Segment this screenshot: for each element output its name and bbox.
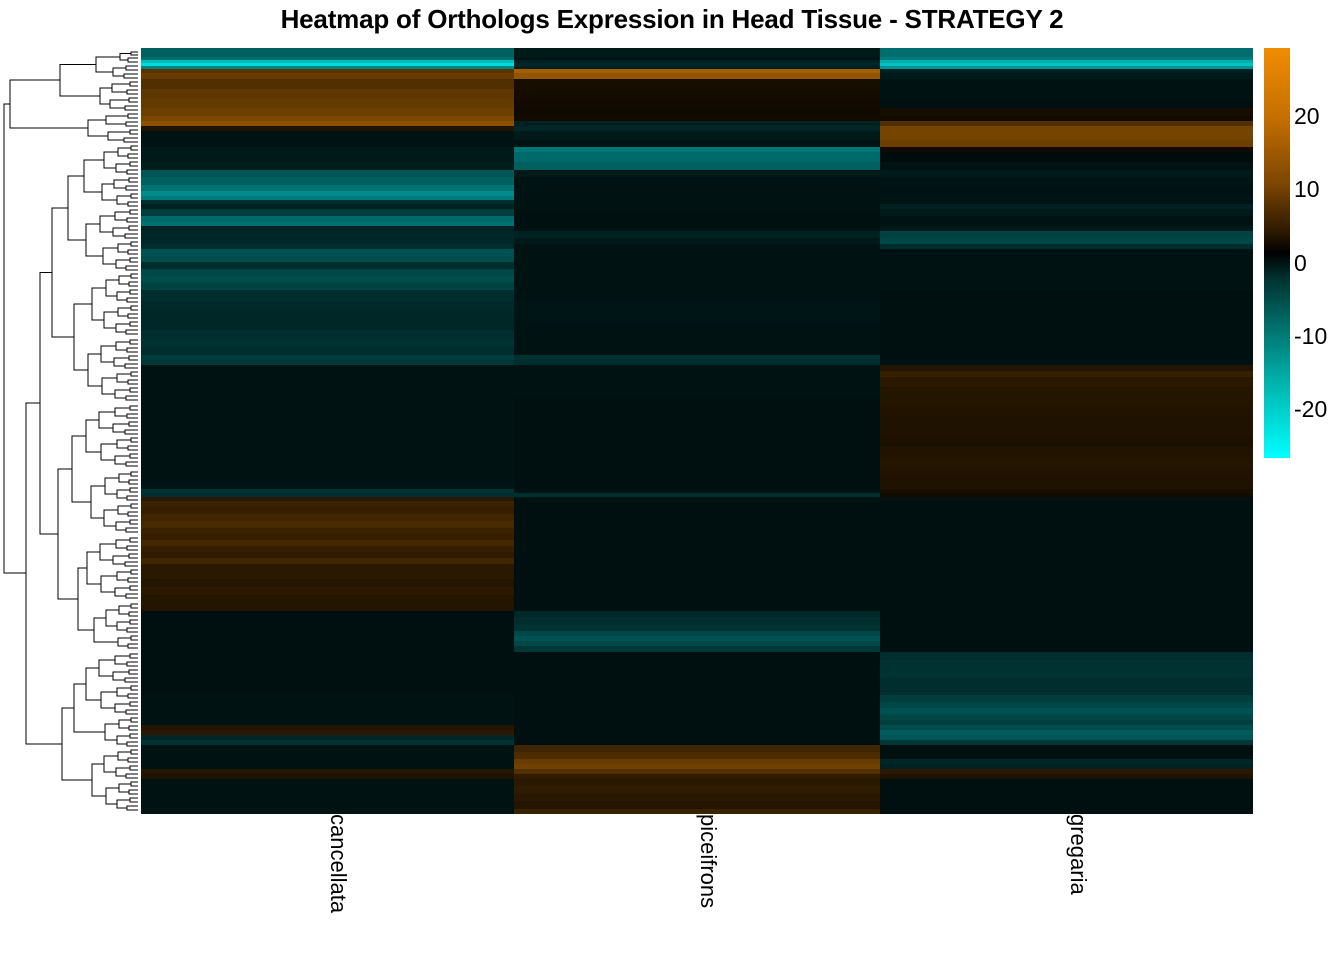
heatmap-cell[interactable] [141,521,514,528]
heatmap-cell[interactable] [880,330,1253,339]
heatmap-cell[interactable] [880,687,1253,695]
heatmap-cell[interactable] [514,282,880,290]
page-title: Heatmap of Orthologs Expression in Head … [0,4,1344,35]
heatmap-cell[interactable] [141,437,514,447]
heatmap-row[interactable] [141,79,1253,89]
heatmap-cell[interactable] [880,48,1253,57]
heatmap-cell[interactable] [880,587,1253,595]
heatmap-cell[interactable] [514,579,880,587]
heatmap-cell[interactable] [514,660,880,669]
heatmap-cell[interactable] [880,301,1253,311]
heatmap-cell[interactable] [880,170,1253,177]
heatmap-row[interactable] [141,321,1253,330]
heatmap-cell[interactable] [141,330,514,339]
heatmap-row[interactable] [141,467,1253,475]
heatmap-row[interactable] [141,162,1253,170]
heatmap-cell[interactable] [514,752,880,759]
heatmap-cell[interactable] [141,617,514,624]
heatmap-row[interactable] [141,231,1253,238]
heatmap-cell[interactable] [141,140,514,147]
heatmap-cell[interactable] [141,624,514,631]
heatmap-cell[interactable] [880,231,1253,238]
heatmap-cell[interactable] [514,564,880,571]
heatmap-cell[interactable] [514,152,880,162]
dendrogram-svg [0,48,141,814]
heatmap-cell[interactable] [141,687,514,695]
heatmap-cell[interactable] [514,427,880,437]
heatmap-cell[interactable] [514,48,880,57]
heatmap-cell[interactable] [141,339,514,347]
heatmap-row[interactable] [141,437,1253,447]
heatmap-row[interactable] [141,595,1253,603]
heatmap-cell[interactable] [141,397,514,407]
heatmap-cell[interactable] [514,170,880,177]
heatmap-cell[interactable] [514,669,880,678]
heatmap-cell[interactable] [141,311,514,321]
heatmap-cell[interactable] [880,89,1253,99]
heatmap-cell[interactable] [514,347,880,355]
heatmap-row[interactable] [141,669,1253,678]
heatmap-row[interactable] [141,152,1253,162]
row-dendrogram [0,48,141,814]
heatmap-row[interactable] [141,785,1253,793]
heatmap-row[interactable] [141,457,1253,467]
heatmap-cell[interactable] [880,339,1253,347]
heatmap-cell[interactable] [880,785,1253,793]
colorbar-tick-minus20: -20 [1294,398,1327,421]
colorbar-tick-minus10: -10 [1294,325,1327,348]
heatmap-cell[interactable] [514,108,880,116]
heatmap-cell[interactable] [141,752,514,759]
heatmap-cell[interactable] [141,249,514,256]
heatmap-row[interactable] [141,603,1253,611]
heatmap-cell[interactable] [141,89,514,99]
heatmap-row[interactable] [141,282,1253,290]
heatmap-cell[interactable] [880,311,1253,321]
heatmap-cell[interactable] [141,301,514,311]
heatmap-row[interactable] [141,752,1253,759]
heatmap-cell[interactable] [141,603,514,611]
heatmap-cell[interactable] [514,330,880,339]
heatmap-cell[interactable] [880,695,1253,702]
heatmap-cell[interactable] [880,579,1253,587]
heatmap-cell[interactable] [880,108,1253,116]
heatmap-cell[interactable] [514,617,880,624]
heatmap-cell[interactable] [514,603,880,611]
heatmap-cell[interactable] [514,311,880,321]
heatmap-cell[interactable] [514,397,880,407]
colorbar-ticks: 20 10 0 -10 -20 [1294,48,1344,458]
heatmap-cell[interactable] [141,152,514,162]
heatmap-row[interactable] [141,587,1253,595]
heatmap-cell[interactable] [141,131,514,140]
colorbar-gradient [1264,48,1290,458]
heatmap-cell[interactable] [141,447,514,457]
heatmap-row[interactable] [141,330,1253,339]
heatmap-cell[interactable] [880,793,1253,801]
heatmap-row[interactable] [141,387,1253,397]
heatmap-row[interactable] [141,447,1253,457]
heatmap-cell[interactable] [514,321,880,330]
heatmap-cell[interactable] [880,752,1253,759]
heatmap-cell[interactable] [514,457,880,467]
heatmap-row[interactable] [141,801,1253,809]
heatmap-cell[interactable] [141,579,514,587]
heatmap-cell[interactable] [141,99,514,108]
heatmap-row[interactable] [141,687,1253,695]
heatmap-row[interactable] [141,177,1253,185]
heatmap-row[interactable] [141,427,1253,437]
heatmap-cell[interactable] [141,571,514,579]
heatmap-cell[interactable] [514,447,880,457]
heatmap-cell[interactable] [880,269,1253,276]
heatmap-cell[interactable] [880,652,1253,660]
heatmap-cell[interactable] [880,660,1253,669]
heatmap-row[interactable] [141,624,1253,631]
heatmap-cell[interactable] [514,162,880,170]
heatmap-cell[interactable] [880,397,1253,407]
heatmap-cell[interactable] [880,669,1253,678]
heatmap-cell[interactable] [141,475,514,483]
heatmap-row[interactable] [141,262,1253,269]
heatmap-cell[interactable] [880,162,1253,170]
heatmap-cell[interactable] [514,571,880,579]
heatmap-cell[interactable] [141,564,514,571]
heatmap-cell[interactable] [141,595,514,603]
heatmap-cell[interactable] [141,785,514,793]
colorbar-tick-20: 20 [1294,105,1320,128]
heatmap-cell[interactable] [880,475,1253,483]
heatmap-cell[interactable] [514,475,880,483]
heatmap-cell[interactable] [141,417,514,427]
heatmap-cell[interactable] [514,79,880,89]
heatmap-cell[interactable] [880,624,1253,631]
heatmap-cell[interactable] [514,131,880,140]
heatmap-cell[interactable] [141,678,514,687]
heatmap-cell[interactable] [141,177,514,185]
heatmap-cell[interactable] [141,282,514,290]
heatmap-cell[interactable] [880,262,1253,269]
heatmap-cell[interactable] [880,457,1253,467]
heatmap-cell[interactable] [880,377,1253,387]
heatmap-cell[interactable] [141,209,514,216]
heatmap-cell[interactable] [880,140,1253,147]
heatmap-row[interactable] [141,514,1253,521]
heatmap-row[interactable] [141,417,1253,427]
heatmap-row[interactable] [141,249,1253,256]
heatmap-cell[interactable] [141,231,514,238]
heatmap-row[interactable] [141,521,1253,528]
heatmap-row[interactable] [141,269,1253,276]
column-label-piceifrons: piceifrons [697,814,719,908]
heatmap-cell[interactable] [141,587,514,595]
heatmap-cell[interactable] [880,745,1253,752]
column-labels: cancellata piceifrons gregaria [141,814,1253,960]
heatmap-cell[interactable] [141,108,514,116]
heatmap-cell[interactable] [880,801,1253,809]
heatmap-cell[interactable] [141,162,514,170]
heatmap-cell[interactable] [514,339,880,347]
heatmap-cell[interactable] [141,652,514,660]
heatmap-cell[interactable] [514,377,880,387]
colorbar-tick-0: 0 [1294,252,1307,275]
heatmap-cell[interactable] [880,603,1253,611]
heatmap-cell[interactable] [880,617,1253,624]
heatmap-cell[interactable] [514,231,880,238]
heatmap-cell[interactable] [514,521,880,528]
heatmap-cell[interactable] [880,290,1253,301]
heatmap-row[interactable] [141,48,1253,57]
heatmap-cell[interactable] [880,152,1253,162]
heatmap-row[interactable] [141,660,1253,669]
heatmap-cell[interactable] [514,745,880,752]
heatmap-row[interactable] [141,407,1253,417]
heatmap-cell[interactable] [514,290,880,301]
heatmap-cell[interactable] [880,177,1253,185]
heatmap-cell[interactable] [141,669,514,678]
heatmap-cell[interactable] [880,407,1253,417]
heatmap-cell[interactable] [141,79,514,89]
heatmap-row[interactable] [141,170,1253,177]
heatmap-cell[interactable] [880,131,1253,140]
heatmap-cell[interactable] [141,377,514,387]
heatmap-cell[interactable] [514,514,880,521]
heatmap-row[interactable] [141,579,1253,587]
column-label-cancellata: cancellata [327,814,349,913]
heatmap-cell[interactable] [514,407,880,417]
heatmap-cell[interactable] [141,269,514,276]
heatmap-cell[interactable] [514,793,880,801]
heatmap-cell[interactable] [514,652,880,660]
heatmap-row[interactable] [141,678,1253,687]
heatmap-cell[interactable] [880,347,1253,355]
heatmap-cell[interactable] [141,467,514,475]
heatmap-row[interactable] [141,695,1253,702]
heatmap-cell[interactable] [514,269,880,276]
heatmap-cell[interactable] [514,262,880,269]
heatmap-grid[interactable] [141,48,1253,814]
heatmap-row[interactable] [141,131,1253,140]
heatmap-row[interactable] [141,745,1253,752]
heatmap-cell[interactable] [880,427,1253,437]
heatmap-cell[interactable] [514,801,880,809]
heatmap-cell[interactable] [514,785,880,793]
heatmap-cell[interactable] [514,249,880,256]
heatmap-row[interactable] [141,89,1253,99]
heatmap-cell[interactable] [514,387,880,397]
heatmap-cell[interactable] [141,660,514,669]
heatmap-cell[interactable] [141,745,514,752]
heatmap-cell[interactable] [880,571,1253,579]
heatmap-row[interactable] [141,108,1253,116]
heatmap-cell[interactable] [880,678,1253,687]
heatmap-cell[interactable] [514,678,880,687]
heatmap-cell[interactable] [880,282,1253,290]
heatmap-cell[interactable] [514,467,880,475]
heatmap-cell[interactable] [141,514,514,521]
heatmap-row[interactable] [141,377,1253,387]
heatmap-row[interactable] [141,475,1253,483]
heatmap-cell[interactable] [141,457,514,467]
heatmap-cell[interactable] [514,209,880,216]
heatmap-row[interactable] [141,140,1253,147]
heatmap-cell[interactable] [141,48,514,57]
heatmap-row[interactable] [141,397,1253,407]
heatmap-cell[interactable] [514,624,880,631]
heatmap-cell[interactable] [514,437,880,447]
heatmap-cell[interactable] [514,177,880,185]
heatmap-cell[interactable] [514,89,880,99]
heatmap-cell[interactable] [880,249,1253,256]
heatmap-row[interactable] [141,339,1253,347]
heatmap-cell[interactable] [880,507,1253,514]
heatmap-cell[interactable] [880,209,1253,216]
column-label-gregaria: gregaria [1067,814,1089,895]
heatmap-cell[interactable] [514,695,880,702]
heatmap-cell[interactable] [880,447,1253,457]
heatmap-cell[interactable] [141,387,514,397]
heatmap-cell[interactable] [880,437,1253,447]
heatmap-row[interactable] [141,617,1253,624]
heatmap-cell[interactable] [141,507,514,514]
heatmap-cell[interactable] [514,507,880,514]
heatmap-row[interactable] [141,507,1253,514]
heatmap-cell[interactable] [141,347,514,355]
heatmap-cell[interactable] [880,521,1253,528]
heatmap-cell[interactable] [880,99,1253,108]
heatmap-cell[interactable] [141,427,514,437]
heatmap-row[interactable] [141,564,1253,571]
heatmap-cell[interactable] [514,687,880,695]
heatmap-cell[interactable] [141,695,514,702]
heatmap-cell[interactable] [880,514,1253,521]
heatmap-cell[interactable] [141,290,514,301]
heatmap-cell[interactable] [514,99,880,108]
heatmap-cell[interactable] [880,387,1253,397]
heatmap-cell[interactable] [514,140,880,147]
heatmap-cell[interactable] [514,301,880,311]
heatmap-row[interactable] [141,99,1253,108]
colorbar-tick-10: 10 [1294,178,1320,201]
heatmap-row[interactable] [141,571,1253,579]
heatmap-row[interactable] [141,301,1253,311]
heatmap-row[interactable] [141,793,1253,801]
heatmap-row[interactable] [141,311,1253,321]
heatmap-cell[interactable] [880,79,1253,89]
heatmap-cell[interactable] [880,564,1253,571]
heatmap-cell[interactable] [880,321,1253,330]
heatmap-figure: Heatmap of Orthologs Expression in Head … [0,0,1344,960]
heatmap-cell[interactable] [141,793,514,801]
heatmap-cell[interactable] [880,595,1253,603]
heatmap-row[interactable] [141,652,1253,660]
heatmap-cell[interactable] [141,801,514,809]
heatmap-cell[interactable] [880,417,1253,427]
heatmap-cell[interactable] [880,467,1253,475]
heatmap-cell[interactable] [141,407,514,417]
heatmap-cell[interactable] [514,417,880,427]
heatmap-cell[interactable] [514,587,880,595]
heatmap-row[interactable] [141,347,1253,355]
heatmap-row[interactable] [141,290,1253,301]
heatmap-row[interactable] [141,209,1253,216]
heatmap-cell[interactable] [141,262,514,269]
heatmap-cell[interactable] [141,170,514,177]
heatmap-cell[interactable] [141,321,514,330]
heatmap-cell[interactable] [514,595,880,603]
